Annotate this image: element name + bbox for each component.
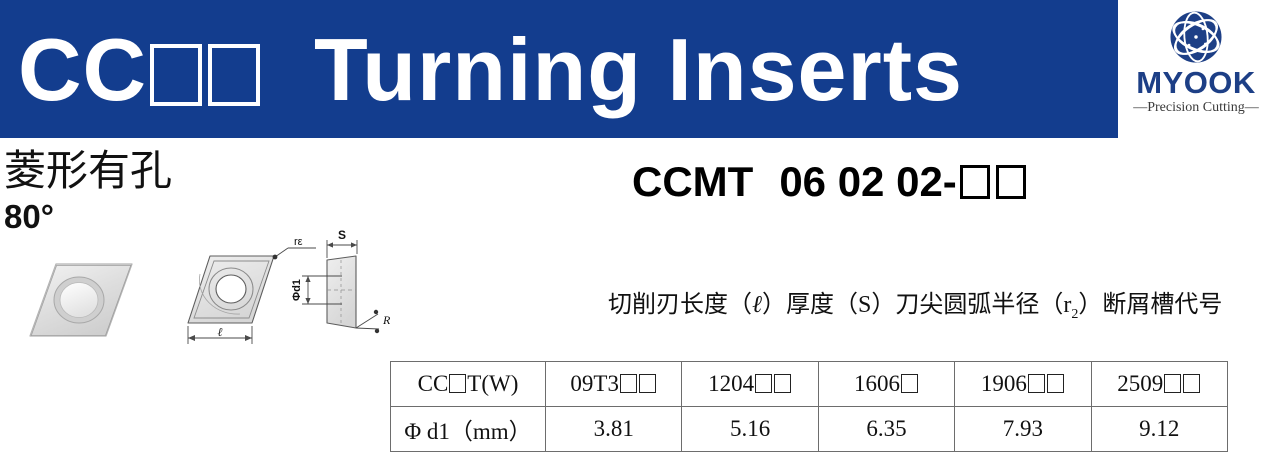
caption-part-3: 刀尖圆弧半径 [895,292,1039,318]
cell-placeholder-box [774,374,791,393]
caption-symbol-r2: （r2） [1039,292,1102,318]
designation-group-3: 02- [896,158,957,205]
insert-dimension-drawing: ℓ rε S Φd1 R [170,228,390,350]
rhombic-insert-photo [22,258,140,342]
caption-part-2: 厚度 [786,292,834,318]
atomic-sphere-icon [1167,8,1225,66]
label-hole-diameter: Φd1 [291,279,303,301]
table-cell-size-2: 1204 [682,362,818,407]
designation-group-2: 02 [838,158,885,205]
logo-wordmark: MYOOK [1128,66,1264,100]
table-cell-size-1: 09T3 [546,362,682,407]
caption-part-1: 切削刃长度 [608,292,728,318]
label-rake-radius: R [382,313,390,327]
label-edge-length: ℓ [218,325,223,339]
page-title: CC Turning Inserts [18,16,963,124]
table-row-hole-diameter: Φ d1（mm） 3.81 5.16 6.35 7.93 9.12 [391,407,1228,452]
table-cell-size-4: 1906 [955,362,1091,407]
dimension-thickness [327,240,357,258]
designation-placeholder-box-2 [996,165,1026,199]
table-cell-size-5: 2509 [1091,362,1227,407]
caption-symbol-s: （S） [834,292,895,318]
drawing-side-view [327,256,356,328]
insert-body [30,264,132,336]
page-title-prefix: CC [18,20,147,119]
designation-code: CCMT [632,158,753,205]
title-placeholder-box-2 [208,44,260,106]
dimension-spec-table: CCT(W) 09T3 1204 1606 1906 2509 Φ d1（mm）… [390,361,1228,452]
cell-placeholder-box [755,374,772,393]
cell-placeholder-box [1028,374,1045,393]
table-cell-d1-2: 5.16 [682,407,818,452]
leader-corner-radius [273,248,316,259]
leader-rake-angle [356,310,379,333]
table-cell-d1-5: 9.12 [1091,407,1227,452]
designation-placeholder-box-1 [960,165,990,199]
caption-part-4: 断屑槽代号 [1102,292,1222,318]
cell-placeholder-box [1183,374,1200,393]
shape-label-chinese: 菱形有孔 [4,148,172,196]
table-cell-size-3: 1606 [818,362,954,407]
cell-placeholder-box [639,374,656,393]
table-row-designation: CCT(W) 09T3 1204 1606 1906 2509 [391,362,1228,407]
brand-logo: MYOOK —Precision Cutting— [1128,6,1264,140]
drawing-top-view [188,256,274,323]
corner-angle-label: 80° [4,198,54,236]
logo-tagline: —Precision Cutting— [1128,100,1264,116]
caption-symbol-l: （ℓ） [728,292,786,318]
cell-placeholder-box [620,374,637,393]
table-cell-d1-1: 3.81 [546,407,682,452]
page-title-suffix: Turning Inserts [314,20,963,119]
table-cell-d1-4: 7.93 [955,407,1091,452]
row-header-designation: CCT(W) [391,362,546,407]
cell-placeholder-box [1164,374,1181,393]
label-corner-radius: rε [294,236,303,248]
row-header-hole-diameter: Φ d1（mm） [391,407,546,452]
insert-designation: CCMT06 02 02- [632,156,1029,208]
table-cell-d1-3: 6.35 [818,407,954,452]
label-thickness: S [338,228,346,242]
title-placeholder-box-1 [150,44,202,106]
header-placeholder-box [449,374,466,393]
designation-group-1: 06 [779,158,826,205]
parameter-caption: 切削刃长度（ℓ）厚度（S）刀尖圆弧半径（r2）断屑槽代号 [608,290,1222,330]
cell-placeholder-box [901,374,918,393]
cell-placeholder-box [1047,374,1064,393]
